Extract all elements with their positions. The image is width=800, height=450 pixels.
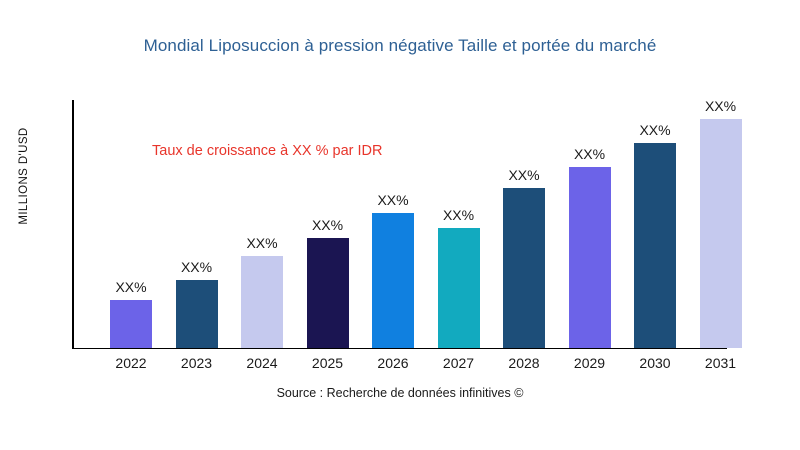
bar-value-label: XX% <box>312 217 343 233</box>
bar-value-label: XX% <box>705 98 736 114</box>
bar: XX% <box>438 228 480 348</box>
x-tick-label: 2026 <box>363 355 423 371</box>
x-tick-label: 2027 <box>429 355 489 371</box>
bar: XX% <box>700 119 742 349</box>
bar-chart: Mondial Liposuccion à pression négative … <box>0 0 800 450</box>
bar: XX% <box>307 238 349 348</box>
x-tick-label: 2028 <box>494 355 554 371</box>
growth-rate-annotation: Taux de croissance à XX % par IDR <box>152 143 383 159</box>
y-axis-line <box>72 100 74 349</box>
y-axis-label: MILLIONS D'USD <box>18 76 30 276</box>
bar: XX% <box>569 167 611 348</box>
source-note: Source : Recherche de données infinitive… <box>0 386 800 400</box>
bar: XX% <box>372 213 414 348</box>
bar: XX% <box>110 300 152 348</box>
bar: XX% <box>634 143 676 348</box>
bar: XX% <box>176 280 218 348</box>
x-tick-label: 2023 <box>167 355 227 371</box>
x-tick-label: 2029 <box>560 355 620 371</box>
x-tick-label: 2022 <box>101 355 161 371</box>
bar-value-label: XX% <box>639 122 670 138</box>
bar-value-label: XX% <box>508 167 539 183</box>
bar-value-label: XX% <box>115 279 146 295</box>
chart-title: Mondial Liposuccion à pression négative … <box>0 36 800 56</box>
bar-value-label: XX% <box>377 192 408 208</box>
x-tick-label: 2030 <box>625 355 685 371</box>
x-tick-label: 2031 <box>691 355 751 371</box>
x-tick-label: 2024 <box>232 355 292 371</box>
x-tick-label: 2025 <box>298 355 358 371</box>
bar-value-label: XX% <box>443 207 474 223</box>
bar-value-label: XX% <box>574 146 605 162</box>
bar-value-label: XX% <box>181 259 212 275</box>
bar: XX% <box>503 188 545 348</box>
bar: XX% <box>241 256 283 348</box>
bar-value-label: XX% <box>246 235 277 251</box>
